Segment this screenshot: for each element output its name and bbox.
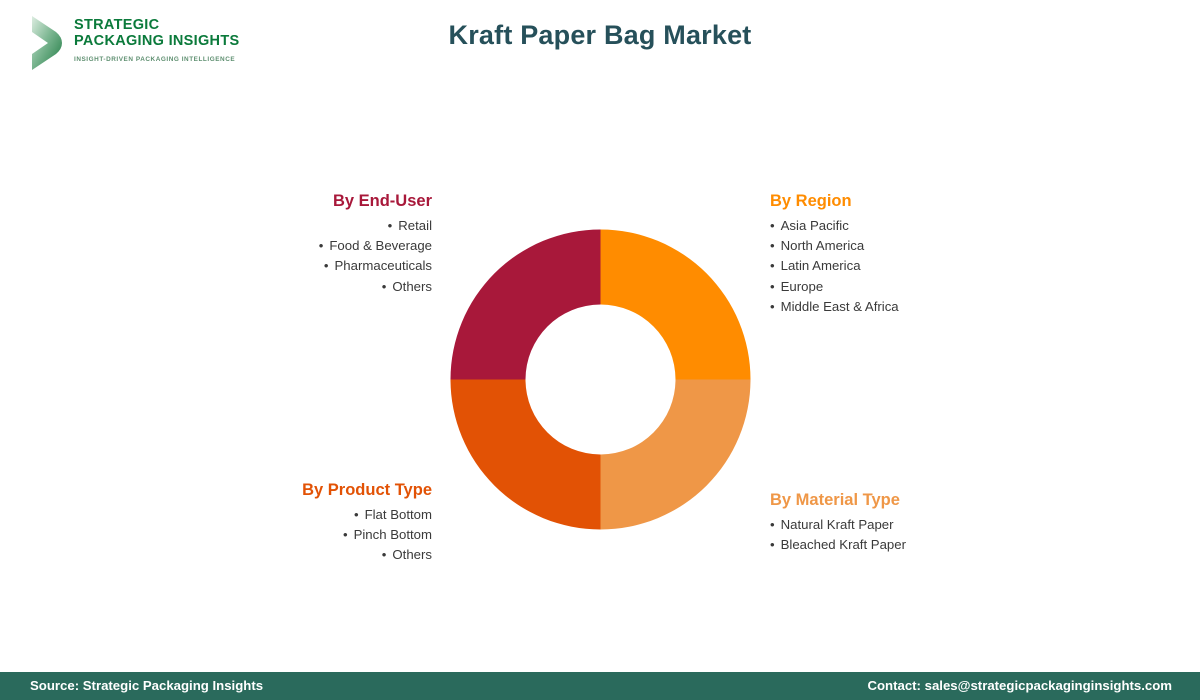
- footer-bar: Source: Strategic Packaging Insights Con…: [0, 672, 1200, 700]
- list-item: Natural Kraft Paper: [770, 515, 1070, 535]
- segment-material-type-heading: By Material Type: [770, 491, 1070, 510]
- segment-region-heading: By Region: [770, 192, 1070, 211]
- list-item: Others: [140, 545, 432, 565]
- logo-tagline: INSIGHT-DRIVEN PACKAGING INTELLIGENCE: [74, 56, 239, 63]
- donut-slice-product-type[interactable]: [451, 380, 601, 530]
- page-title: Kraft Paper Bag Market: [0, 20, 1200, 51]
- footer-contact[interactable]: Contact: sales@strategicpackaginginsight…: [867, 672, 1172, 700]
- segment-material-type: By Material Type Natural Kraft Paper Ble…: [770, 491, 1070, 555]
- infographic-page: STRATEGIC PACKAGING INSIGHTS INSIGHT-DRI…: [0, 0, 1200, 700]
- donut-slice-material-type[interactable]: [601, 380, 751, 530]
- list-item: Others: [140, 277, 432, 297]
- segment-end-user-heading: By End-User: [140, 192, 432, 211]
- footer-source: Source: Strategic Packaging Insights: [30, 672, 263, 700]
- segment-end-user-list: Retail Food & Beverage Pharmaceuticals O…: [140, 216, 432, 297]
- donut-chart-svg: [450, 229, 751, 530]
- segment-region-list: Asia Pacific North America Latin America…: [770, 216, 1070, 317]
- list-item: Flat Bottom: [140, 505, 432, 525]
- list-item: Food & Beverage: [140, 236, 432, 256]
- segment-product-type-list: Flat Bottom Pinch Bottom Others: [140, 505, 432, 566]
- list-item: Asia Pacific: [770, 216, 1070, 236]
- list-item: North America: [770, 236, 1070, 256]
- list-item: Retail: [140, 216, 432, 236]
- segment-region: By Region Asia Pacific North America Lat…: [770, 192, 1070, 317]
- donut-slice-end-user[interactable]: [451, 230, 601, 380]
- segment-material-type-list: Natural Kraft Paper Bleached Kraft Paper: [770, 515, 1070, 555]
- list-item: Pinch Bottom: [140, 525, 432, 545]
- segment-product-type-heading: By Product Type: [140, 481, 432, 500]
- list-item: Latin America: [770, 256, 1070, 276]
- list-item: Europe: [770, 277, 1070, 297]
- list-item: Pharmaceuticals: [140, 256, 432, 276]
- list-item: Middle East & Africa: [770, 297, 1070, 317]
- donut-slice-region[interactable]: [601, 230, 751, 380]
- donut-chart: [450, 229, 751, 530]
- list-item: Bleached Kraft Paper: [770, 535, 1070, 555]
- segment-end-user: By End-User Retail Food & Beverage Pharm…: [140, 192, 432, 297]
- segment-product-type: By Product Type Flat Bottom Pinch Bottom…: [140, 481, 432, 566]
